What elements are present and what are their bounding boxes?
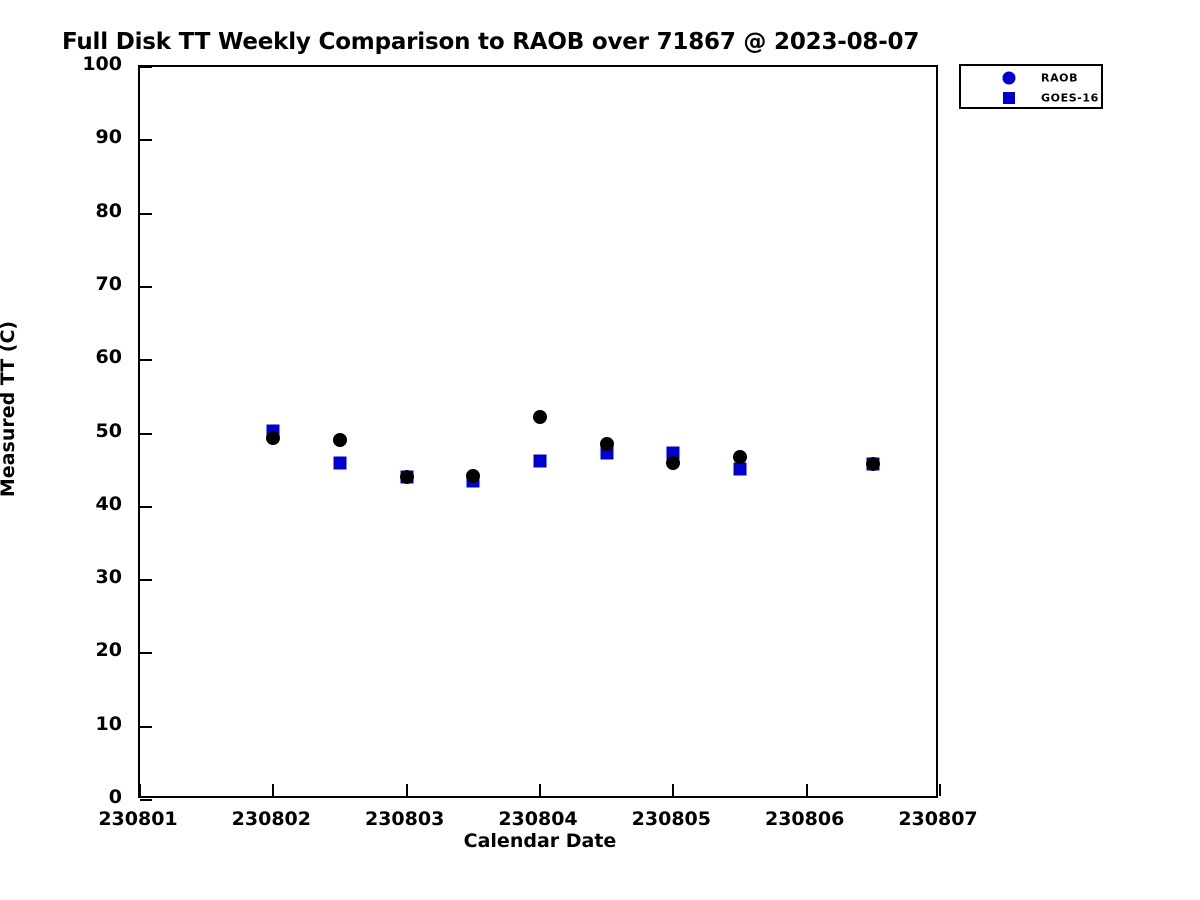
chart-title: Full Disk TT Weekly Comparison to RAOB o… bbox=[62, 29, 919, 55]
x-tick-label: 230807 bbox=[858, 810, 1018, 829]
x-tick bbox=[272, 784, 274, 796]
raob-marker-icon bbox=[1001, 68, 1017, 88]
goes16-marker-icon bbox=[1001, 88, 1017, 108]
x-tick bbox=[806, 784, 808, 796]
y-tick bbox=[140, 726, 152, 728]
data-point-goes-16 bbox=[534, 454, 547, 467]
data-point-goes-16 bbox=[334, 456, 347, 469]
data-point-raob bbox=[666, 456, 680, 470]
y-tick-label: 0 bbox=[0, 788, 122, 807]
x-tick bbox=[939, 784, 941, 796]
y-tick bbox=[140, 66, 152, 68]
legend-label-raob: RAOB bbox=[1041, 72, 1078, 85]
plot-area bbox=[138, 65, 938, 798]
chart-legend: RAOB GOES-16 bbox=[959, 64, 1103, 109]
y-tick bbox=[140, 139, 152, 141]
x-tick bbox=[139, 784, 141, 796]
x-tick bbox=[539, 784, 541, 796]
data-point-raob bbox=[600, 437, 614, 451]
y-tick-label: 70 bbox=[0, 275, 122, 294]
legend-item-raob: RAOB bbox=[961, 68, 1101, 88]
y-tick bbox=[140, 799, 152, 801]
data-point-raob bbox=[733, 450, 747, 464]
y-tick-label: 50 bbox=[0, 422, 122, 441]
x-tick bbox=[672, 784, 674, 796]
y-tick-label: 90 bbox=[0, 128, 122, 147]
y-tick-label: 10 bbox=[0, 715, 122, 734]
y-tick bbox=[140, 286, 152, 288]
y-tick-label: 20 bbox=[0, 641, 122, 660]
y-tick bbox=[140, 652, 152, 654]
y-tick bbox=[140, 433, 152, 435]
y-tick bbox=[140, 579, 152, 581]
x-axis-title: Calendar Date bbox=[0, 830, 1080, 852]
data-point-raob bbox=[533, 410, 547, 424]
y-tick-label: 100 bbox=[0, 55, 122, 74]
data-point-raob bbox=[333, 433, 347, 447]
data-point-raob bbox=[400, 470, 414, 484]
data-point-goes-16 bbox=[734, 462, 747, 475]
x-tick bbox=[406, 784, 408, 796]
legend-label-goes16: GOES-16 bbox=[1041, 92, 1099, 105]
y-tick-label: 30 bbox=[0, 568, 122, 587]
data-point-raob bbox=[266, 431, 280, 445]
y-tick-label: 40 bbox=[0, 495, 122, 514]
y-tick bbox=[140, 213, 152, 215]
data-point-raob bbox=[466, 469, 480, 483]
y-axis-title: Measured TT (C) bbox=[0, 209, 19, 609]
y-tick-label: 80 bbox=[0, 202, 122, 221]
y-tick-label: 60 bbox=[0, 348, 122, 367]
y-tick bbox=[140, 359, 152, 361]
chart-container: Full Disk TT Weekly Comparison to RAOB o… bbox=[0, 0, 1200, 900]
legend-item-goes16: GOES-16 bbox=[961, 88, 1101, 108]
y-tick bbox=[140, 506, 152, 508]
data-point-raob bbox=[866, 457, 880, 471]
